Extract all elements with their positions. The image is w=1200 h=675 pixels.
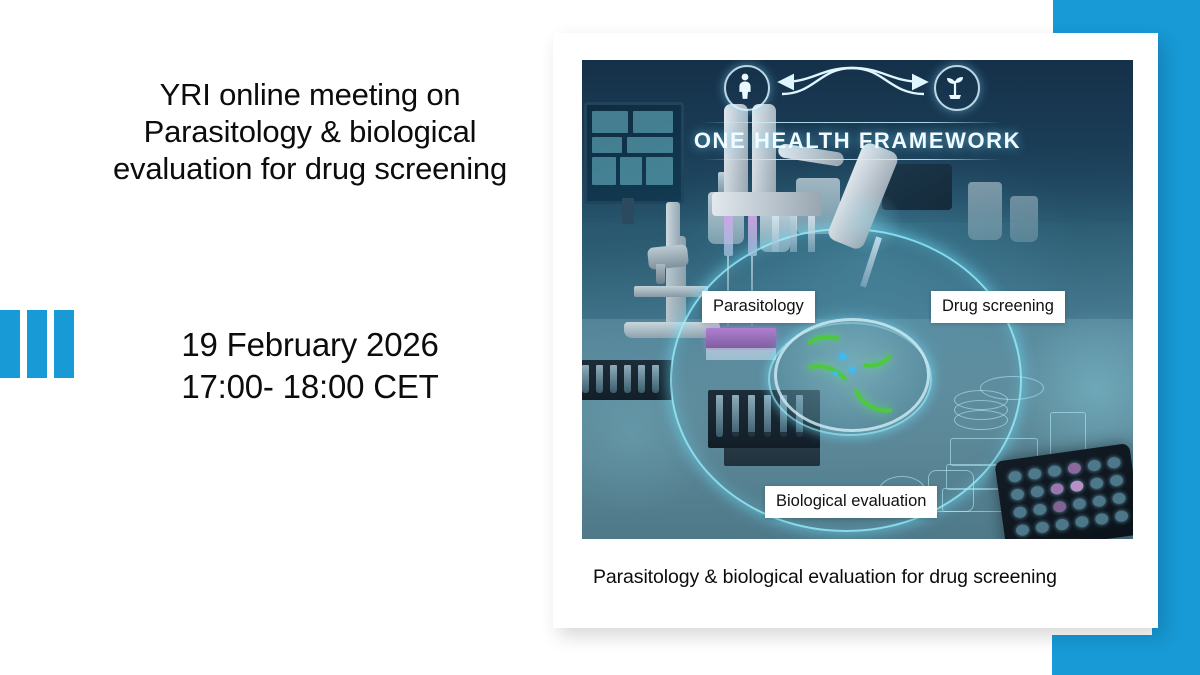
microscope-stage (634, 286, 708, 297)
lab-bottle-4 (968, 182, 1002, 240)
overlay-title-rule-bottom (702, 159, 1002, 160)
fluorescent-dot-3 (833, 371, 838, 376)
plant-icon (934, 65, 980, 111)
fluorescent-dot-1 (839, 353, 846, 360)
monitor-stand (622, 198, 634, 224)
parasite-worm-1 (790, 357, 856, 414)
microscope-tube (666, 202, 680, 248)
decor-bar-2 (27, 310, 47, 378)
label-chip-biological-evaluation: Biological evaluation (765, 486, 937, 518)
pipette-tip-3 (772, 216, 779, 252)
microscope-nosepiece (647, 244, 689, 270)
decor-bar-1 (0, 310, 20, 378)
overlay-title: ONE HEALTH FRAMEWORK (582, 128, 1133, 154)
petri-dish-wireframe-large (980, 376, 1044, 400)
single-pipette-glow (834, 190, 904, 254)
pipette-tip-2 (748, 216, 757, 256)
pipette-tip-1 (724, 216, 733, 256)
pipette-tip-4 (790, 216, 797, 252)
label-chip-parasitology: Parasitology (702, 291, 815, 323)
lab-bottle-5 (1010, 196, 1038, 242)
pipette-tip-5 (808, 216, 815, 252)
microscope-objective (656, 264, 665, 284)
person-icon (724, 65, 770, 111)
photo-caption: Parasitology & biological evaluation for… (593, 566, 1133, 589)
decor-right-strip (1152, 0, 1200, 675)
slide-headline: YRI online meeting on Parasitology & bio… (92, 76, 528, 188)
fluorescent-dot-2 (849, 367, 855, 373)
decor-bar-3 (54, 310, 74, 378)
slide-date: 19 February 2026 (92, 324, 528, 366)
petri-dish (774, 318, 930, 432)
photo-image: ONE HEALTH FRAMEWORK Parasitology Drug s… (582, 60, 1133, 539)
parasite-worm-3 (801, 332, 848, 366)
presentation-slide: YRI online meeting on Parasitology & bio… (0, 0, 1200, 675)
label-chip-drug-screening: Drug screening (931, 291, 1065, 323)
test-tube-rack-left (582, 360, 672, 400)
exchange-arrows-icon (768, 60, 938, 110)
multichannel-pipette-head (712, 192, 822, 216)
decor-bottom-right-block (1052, 635, 1200, 675)
overlay-title-rule-top (702, 122, 1002, 123)
slide-datetime: 19 February 2026 17:00- 18:00 CET (92, 324, 528, 408)
slide-time: 17:00- 18:00 CET (92, 366, 528, 408)
petri-stack-wireframe-3 (954, 410, 1008, 430)
